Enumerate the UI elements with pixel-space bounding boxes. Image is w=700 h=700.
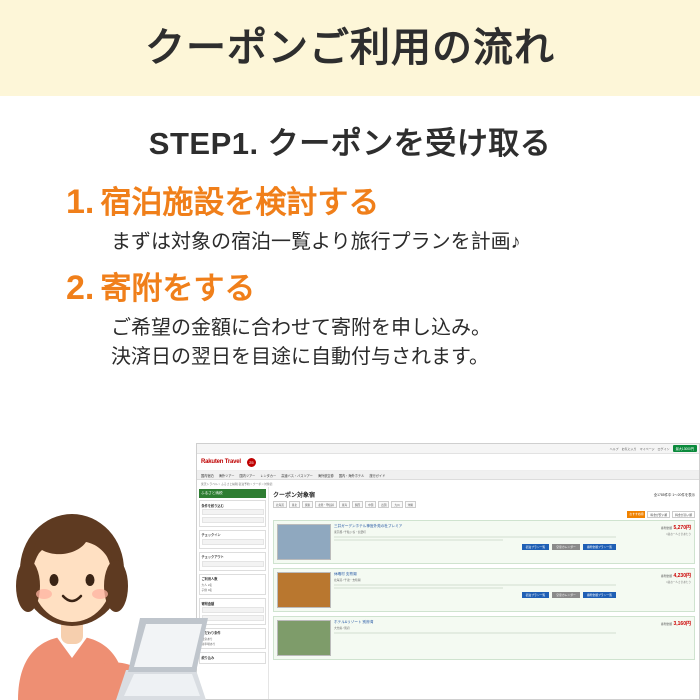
- hotel-price-column: 寄附金額 3,160円: [619, 620, 691, 656]
- breadcrumb: 楽天トラベル > ふるさと納税 宿泊予約 > クーポン対象宿: [197, 480, 699, 487]
- hotel-card-body: 休暇村 支笏湖 北海道 / 千歳・支笏湖 宿泊プラン一覧 空室カレンダー 寄附金…: [334, 572, 616, 608]
- rakuten-travel-screenshot: ヘルプ お気に入り マイページ ログイン 最大13000円 Rakuten Tr…: [196, 443, 700, 700]
- step-2-label: 寄附をする: [100, 272, 255, 306]
- hotel-card[interactable]: ホテル&リゾート 別府湾 大分県 / 別府 寄附金額 3,160円: [273, 616, 695, 660]
- step-2-number: 2.: [66, 271, 94, 305]
- sort-option-1[interactable]: 料金が高い順: [672, 511, 695, 518]
- nav-item-0[interactable]: 国内宿泊: [201, 473, 214, 478]
- illustration-eye-right: [86, 574, 95, 586]
- topbar-link-mypage[interactable]: マイページ: [640, 447, 655, 451]
- sort-option-0[interactable]: 料金が安い順: [647, 511, 670, 518]
- step-2-description-line-1: ご希望の金額に合わせて寄附を申し込み。: [111, 314, 660, 343]
- screenshot-brandbar: Rakuten Travel 25: [197, 454, 699, 471]
- hotel-price-column: 寄附金額 4,230円 1泊お一人さまあたり: [619, 572, 691, 608]
- region-tag-row: 北海道 東北 関東 北陸・甲信越 東海 関西 中国 四国 九州 沖縄: [273, 501, 695, 508]
- nav-item-7[interactable]: 旅行ガイド: [369, 473, 385, 478]
- plan-list-button[interactable]: 宿泊プラン一覧: [522, 544, 550, 550]
- sort-row: おすすめ順 料金が安い順 料金が高い順: [273, 511, 695, 518]
- page-title: クーポンご利用の流れ: [145, 28, 555, 68]
- hotel-price: 寄附金額 4,230円: [619, 572, 691, 579]
- hotel-description-line: [334, 632, 616, 634]
- hotel-price: 寄附金額 3,160円: [619, 620, 691, 627]
- nav-item-5[interactable]: 海外航空券: [318, 473, 334, 478]
- illustration-hair-left: [16, 560, 40, 612]
- anniversary-badge: 25: [247, 458, 256, 467]
- region-tag-4[interactable]: 東海: [339, 501, 350, 508]
- hotel-card-buttons: 宿泊プラン一覧 空室カレンダー 寄附金額プラン一覧: [334, 592, 616, 598]
- step-1-label: 宿泊施設を検討する: [100, 186, 379, 220]
- hotel-price-column: 寄附金額 5,270円 1泊お一人さまあたり: [619, 524, 691, 560]
- step-2-row: 2. 寄附をする: [66, 271, 660, 306]
- illustration-eye-left: [50, 574, 59, 586]
- region-tag-9[interactable]: 沖縄: [405, 501, 416, 508]
- hotel-card-buttons: 宿泊プラン一覧 空室カレンダー 寄附金額プラン一覧: [334, 544, 616, 550]
- step-2-description: ご希望の金額に合わせて寄附を申し込み。 決済日の翌日を目途に自動付与されます。: [111, 314, 660, 372]
- price-value: 5,270円: [673, 525, 691, 531]
- main-header: クーポン対象宿 全1785件中 1～20件を表示: [273, 490, 695, 499]
- region-tag-0[interactable]: 北海道: [273, 501, 287, 508]
- illustration-cheek-left: [36, 589, 52, 599]
- hotel-card-body: 三井ガーデンホテル神宮外苑の杜プレミア 東京都 / 千駄ヶ谷・信濃町 宿泊プラン…: [334, 524, 616, 560]
- illustration-laptop-screen: [134, 624, 202, 667]
- header-banner: クーポンご利用の流れ: [0, 0, 700, 96]
- screenshot-navbar: 国内宿泊 海外ツアー 国内ツアー レンタカー 高速バス・バスツアー 海外航空券 …: [197, 471, 699, 480]
- nav-item-6[interactable]: 国内・海外ホテル: [339, 473, 365, 478]
- hotel-card[interactable]: 休暇村 支笏湖 北海道 / 千歳・支笏湖 宿泊プラン一覧 空室カレンダー 寄附金…: [273, 568, 695, 612]
- hotel-description-line: [334, 539, 503, 541]
- topbar-badge: 最大13000円: [673, 445, 697, 452]
- price-label: 寄附金額: [661, 574, 672, 578]
- price-label: 寄附金額: [661, 622, 672, 626]
- hotel-card[interactable]: 三井ガーデンホテル神宮外苑の杜プレミア 東京都 / 千駄ヶ谷・信濃町 宿泊プラン…: [273, 520, 695, 564]
- region-tag-2[interactable]: 関東: [302, 501, 313, 508]
- calendar-button[interactable]: 空室カレンダー: [552, 544, 580, 550]
- region-tag-5[interactable]: 関西: [352, 501, 363, 508]
- screenshot-topbar: ヘルプ お気に入り マイページ ログイン 最大13000円: [197, 444, 699, 454]
- nav-item-4[interactable]: 高速バス・バスツアー: [281, 473, 313, 478]
- hotel-description-line: [334, 584, 616, 586]
- hotel-thumbnail: [277, 620, 331, 656]
- illustration-laptop-keyboard: [124, 674, 200, 696]
- hotel-name[interactable]: 三井ガーデンホテル神宮外苑の杜プレミア: [334, 524, 616, 529]
- nav-item-3[interactable]: レンタカー: [260, 473, 276, 478]
- sort-active[interactable]: おすすめ順: [627, 511, 645, 518]
- region-tag-3[interactable]: 北陸・甲信越: [315, 501, 337, 508]
- region-tag-7[interactable]: 四国: [378, 501, 389, 508]
- calendar-button[interactable]: 空室カレンダー: [552, 592, 580, 598]
- donation-plan-button[interactable]: 寄附金額プラン一覧: [583, 544, 616, 550]
- rakuten-travel-logo[interactable]: Rakuten Travel: [201, 459, 241, 465]
- region-tag-8[interactable]: 九州: [391, 501, 402, 508]
- hotel-thumbnail: [277, 572, 331, 608]
- hotel-location: 北海道 / 千歳・支笏湖: [334, 578, 616, 582]
- hotel-thumbnail: [277, 524, 331, 560]
- illustration-cheek-right: [92, 589, 108, 599]
- topbar-link-favorites[interactable]: お気に入り: [622, 447, 637, 451]
- price-note: 1泊お一人さまあたり: [619, 532, 691, 536]
- hotel-price: 寄附金額 5,270円: [619, 524, 691, 531]
- step-heading: STEP1. クーポンを受け取る: [0, 118, 700, 163]
- hotel-location: 大分県 / 別府: [334, 626, 616, 630]
- region-tag-1[interactable]: 東北: [289, 501, 300, 508]
- step-item-1: 1. 宿泊施設を検討する まずは対象の宿泊一覧より旅行プランを計画♪: [66, 185, 660, 257]
- donation-plan-button[interactable]: 寄附金額プラン一覧: [583, 592, 616, 598]
- price-value: 4,230円: [673, 573, 691, 579]
- hotel-location: 東京都 / 千駄ヶ谷・信濃町: [334, 530, 616, 534]
- main-title: クーポン対象宿: [273, 490, 315, 499]
- plan-list-button[interactable]: 宿泊プラン一覧: [522, 592, 550, 598]
- step-1-number: 1.: [66, 185, 94, 219]
- hotel-card-body: ホテル&リゾート 別府湾 大分県 / 別府: [334, 620, 616, 656]
- illustration-hair-right: [104, 560, 128, 612]
- woman-with-laptop-illustration: [0, 478, 230, 700]
- hotel-name[interactable]: 休暇村 支笏湖: [334, 572, 616, 577]
- screenshot-body: ふるさと納税 条件を絞り込む チェックイン チェックアウト ご利用人数 大人 2…: [197, 487, 699, 700]
- nav-item-2[interactable]: 国内ツアー: [240, 473, 256, 478]
- step-item-2: 2. 寄附をする ご希望の金額に合わせて寄附を申し込み。 決済日の翌日を目途に自…: [66, 271, 660, 372]
- screenshot-main: クーポン対象宿 全1785件中 1～20件を表示 北海道 東北 関東 北陸・甲信…: [269, 487, 699, 700]
- step-1-description: まずは対象の宿泊一覧より旅行プランを計画♪: [111, 228, 660, 257]
- region-tag-6[interactable]: 中国: [365, 501, 376, 508]
- hotel-name[interactable]: ホテル&リゾート 別府湾: [334, 620, 616, 625]
- step-2-description-line-2: 決済日の翌日を目途に自動付与されます。: [111, 343, 660, 372]
- step-1-description-line-1: まずは対象の宿泊一覧より旅行プランを計画♪: [111, 228, 660, 257]
- hotel-description-line: [334, 587, 503, 589]
- step-1-row: 1. 宿泊施設を検討する: [66, 185, 660, 220]
- price-label: 寄附金額: [661, 526, 672, 530]
- steps-list: 1. 宿泊施設を検討する まずは対象の宿泊一覧より旅行プランを計画♪ 2. 寄附…: [0, 185, 700, 372]
- price-value: 3,160円: [673, 621, 691, 627]
- topbar-link-login[interactable]: ログイン: [658, 447, 670, 451]
- result-count: 全1785件中 1～20件を表示: [654, 492, 695, 497]
- price-note: 1泊お一人さまあたり: [619, 580, 691, 584]
- hotel-description-line: [334, 536, 616, 538]
- topbar-link-help[interactable]: ヘルプ: [610, 447, 619, 451]
- nav-item-1[interactable]: 海外ツアー: [219, 473, 235, 478]
